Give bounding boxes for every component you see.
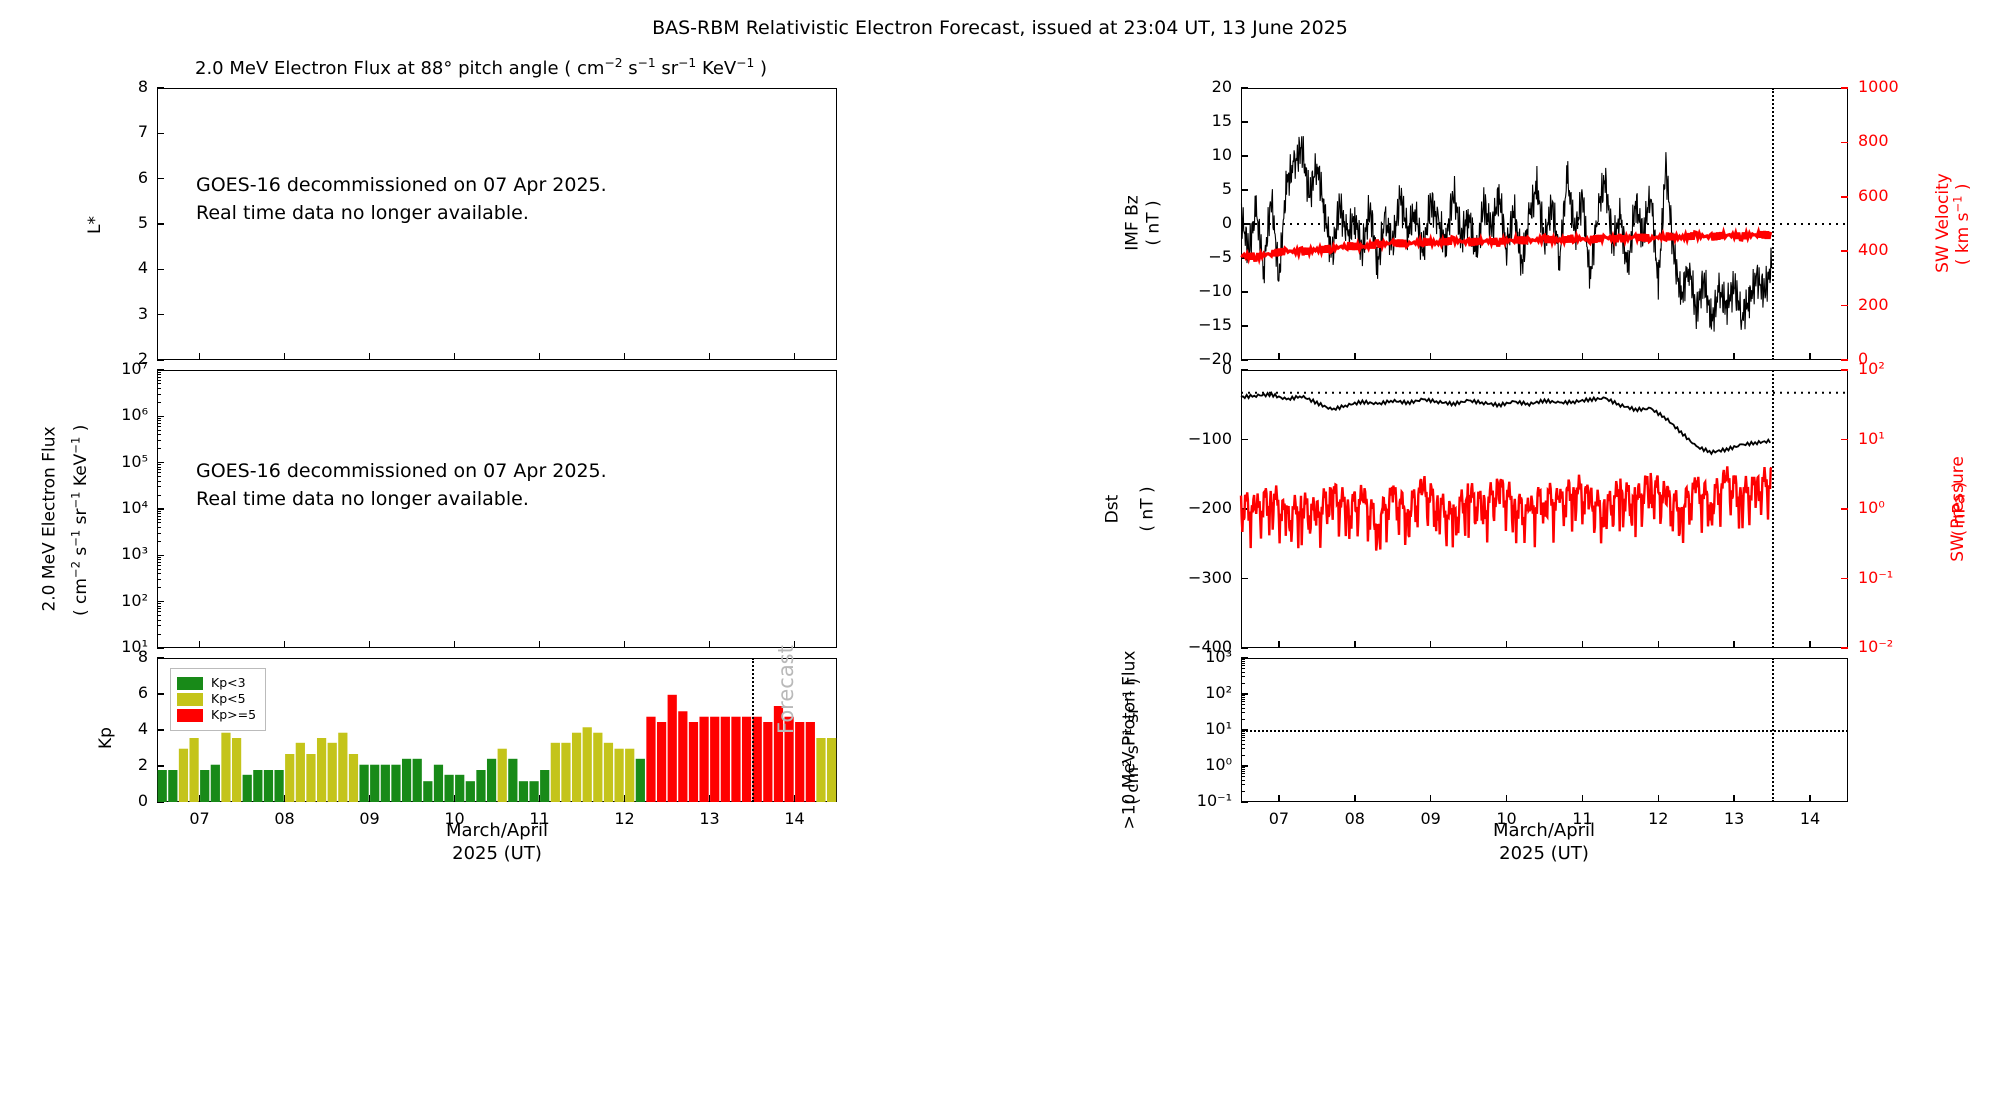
proton-xtickmark-4 [1582,795,1584,802]
proton-minor-tick [1241,661,1245,662]
proton-xaxis-label: March/April 2025 (UT) [1444,820,1644,865]
dst-series [0,0,2000,1100]
proton-minor-tick [1241,719,1245,720]
proton-ytick-0: 10³ [1205,647,1232,666]
proton-minor-tick [1241,672,1245,673]
proton-ytick-2: 10¹ [1205,719,1232,738]
proton-minor-tick [1241,740,1245,741]
proton-minor-tick [1241,659,1245,660]
proton-ylabel-line2: ( cm2 s−1 sr−1 ) [1120,678,1143,805]
proton-xtickmark-1 [1354,795,1356,802]
proton-minor-tick [1241,735,1245,736]
dst-forecast-divider [1772,370,1774,648]
proton-minor-tick [1241,697,1245,698]
proton-minor-tick [1241,784,1245,785]
proton-ytick-4: 10⁻¹ [1197,791,1232,810]
proton-forecast-divider [1772,658,1774,802]
proton-minor-tick [1241,699,1245,700]
proton-minor-tick [1241,755,1245,756]
proton-ytick-1: 10² [1205,683,1232,702]
proton-minor-tick [1241,791,1245,792]
sw-pressure-trace [1241,466,1771,550]
proton-minor-tick [1241,773,1245,774]
proton-minor-tick [1241,708,1245,709]
pf-unit-s2: −1 [1120,728,1134,745]
proton-minor-tick [1241,767,1245,768]
proton-minor-tick [1241,663,1245,664]
proton-minor-tick [1241,712,1245,713]
pf-unit-s1: 2 [1120,759,1134,766]
proton-minor-tick [1241,737,1245,738]
proton-minor-tick [1241,668,1245,669]
dst-trace [1241,393,1770,454]
proton-minor-tick [1241,676,1245,677]
proton-xtick-0: 07 [1268,809,1290,828]
proton-xtickmark-5 [1658,795,1660,802]
pf-unit-b: s [1123,745,1143,759]
proton-minor-tick [1241,701,1245,702]
proton-minor-tick [1241,695,1245,696]
xaxis2-line2: 2025 (UT) [1444,843,1644,866]
pf-unit-c: sr [1123,707,1143,728]
proton-xtickmark-7 [1809,795,1811,802]
proton-minor-tick [1241,771,1245,772]
proton-minor-tick [1241,704,1245,705]
proton-minor-tick [1241,665,1245,666]
proton-xtickmark-2 [1430,795,1432,802]
proton-minor-tick [1241,748,1245,749]
pf-unit-d: ) [1123,678,1143,690]
proton-minor-tick [1241,744,1245,745]
proton-xtick-5: 12 [1647,809,1669,828]
proton-xtickmark-0 [1278,795,1280,802]
proton-xtick-2: 09 [1420,809,1442,828]
proton-threshold-line [1241,730,1848,732]
proton-ytickmark-4 [1241,801,1248,803]
proton-minor-tick [1241,683,1245,684]
proton-ytick-3: 10⁰ [1205,755,1232,774]
proton-xtick-6: 13 [1723,809,1745,828]
pf-unit-a: ( cm [1123,767,1143,805]
proton-xtick-7: 14 [1799,809,1821,828]
proton-xtickmark-6 [1733,795,1735,802]
proton-minor-tick [1241,776,1245,777]
xaxis2-line1: March/April [1444,820,1644,843]
pf-unit-s3: −1 [1120,690,1134,707]
proton-xtickmark-3 [1506,795,1508,802]
proton-minor-tick [1241,769,1245,770]
proton-xtick-1: 08 [1344,809,1366,828]
proton-minor-tick [1241,780,1245,781]
proton-minor-tick [1241,733,1245,734]
